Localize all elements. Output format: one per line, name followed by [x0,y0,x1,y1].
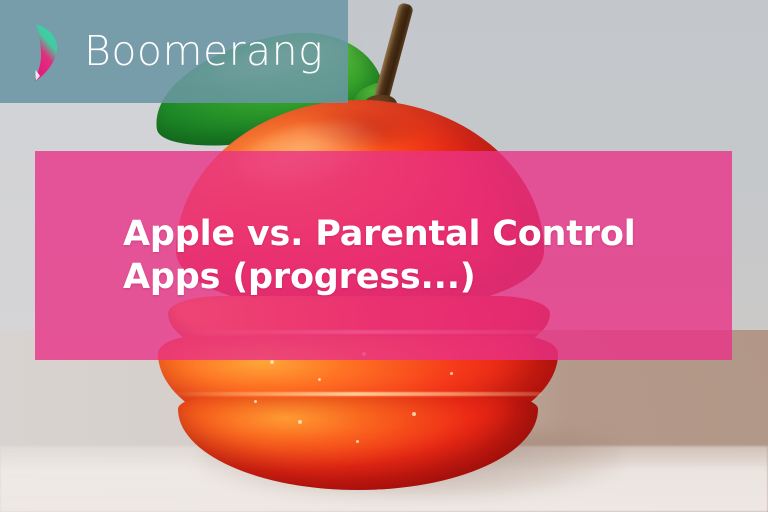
apple-cut-line-2 [166,392,542,396]
apple-speck [356,440,359,443]
hero-image: Boomerang Apple vs. Parental Control App… [0,0,768,512]
brand-name: Boomerang [84,31,323,72]
apple-speck [412,412,416,416]
apple-speck [270,360,274,364]
page-title-line-2: (progress...) [232,257,475,297]
apple-speck [298,420,302,424]
brand-header-bar[interactable]: Boomerang [0,0,348,103]
title-banner: Apple vs. Parental Control Apps (progres… [35,151,732,360]
apple-speck [254,400,257,403]
apple-slice-bottom [178,398,538,490]
page-title: Apple vs. Parental Control Apps (progres… [123,213,683,298]
apple-speck [318,378,321,381]
apple-speck [450,372,453,375]
boomerang-icon[interactable] [24,20,70,84]
